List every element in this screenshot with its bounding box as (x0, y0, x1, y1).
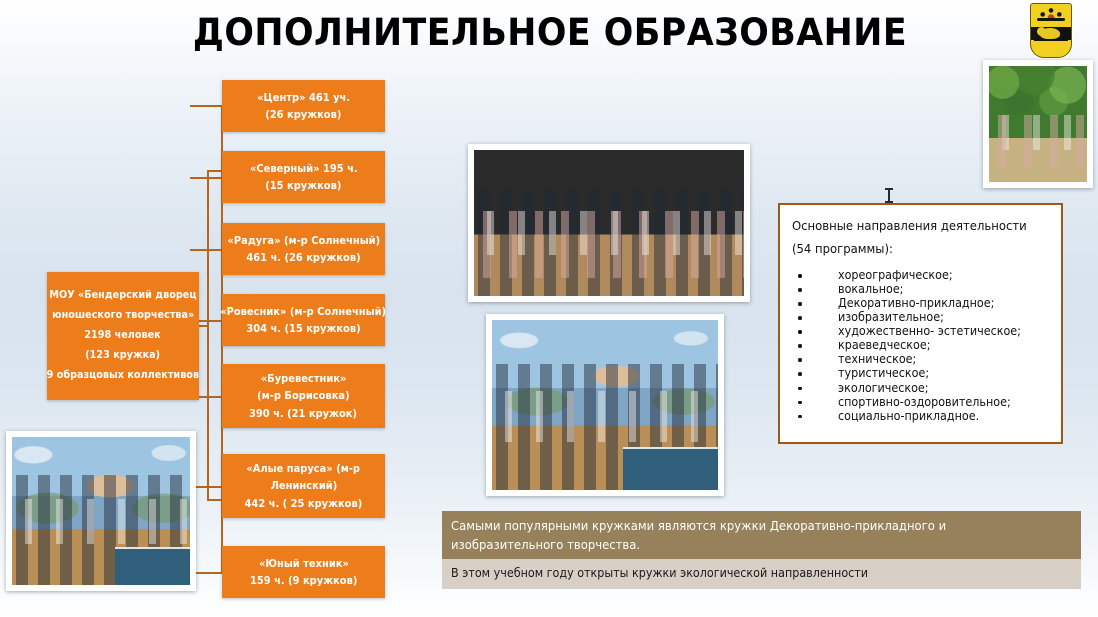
list-item: техническое; (792, 352, 1051, 366)
list-item: вокальное; (792, 282, 1051, 296)
list-item-label: техническое; (838, 352, 916, 366)
photo-table-tennis-center: Группа детей с грамотами в зале настольн… (486, 314, 724, 496)
main-box-line-2: юношеского творчества» (52, 306, 194, 326)
branch-line: (м-р Борисовка) (257, 387, 349, 404)
branch-box-centr: «Центр» 461 уч. (26 кружков) (222, 80, 385, 132)
photo-table-tennis-center-image (492, 320, 718, 490)
institution-summary-box: МОУ «Бендерский дворец юношеского творче… (47, 272, 199, 400)
highlight-banner-primary: Самыми популярными кружками являются кру… (442, 511, 1081, 559)
main-box-line-5: 9 образцовых коллективов (47, 366, 199, 386)
branch-line: «Центр» 461 уч. (257, 89, 350, 106)
list-item-label: хореографическое; (838, 268, 953, 282)
photo-crowd-layer-3 (12, 499, 190, 543)
photo-kids-costumes-image (474, 150, 744, 296)
emblem-base (1034, 40, 1068, 48)
branch-box-alye-parusa: «Алые паруса» (м-р Ленинский) 442 ч. ( 2… (222, 454, 385, 518)
branch-box-raduga: «Радуга» (м-р Солнечный) 461 ч. (26 круж… (222, 223, 385, 275)
list-item-label: туристическое; (838, 366, 929, 380)
branch-box-severnyi: «Северный» 195 ч. (15 кружков) (222, 151, 385, 203)
photo-kids-costumes: Группа детей в новогодних костюмах (468, 144, 750, 302)
list-item: спортивно-оздоровительное; (792, 395, 1051, 409)
photo-outdoor-group: Группа детей на природе летом (983, 60, 1093, 188)
list-item-label: спортивно-оздоровительное; (838, 395, 1011, 409)
photo-outdoor-group-image (989, 66, 1087, 182)
branch-line: (15 кружков) (265, 177, 341, 194)
list-item-label: вокальное; (838, 282, 903, 296)
branch-line: (26 кружков) (265, 106, 341, 123)
info-heading-line-1: Основные направления деятельности (792, 214, 1033, 237)
list-item: изобразительное; (792, 310, 1051, 324)
list-item-label: социально-прикладное. (838, 409, 979, 423)
branch-line: «Радуга» (м-р Солнечный) (227, 232, 380, 249)
list-item: Декоративно-прикладное; (792, 296, 1051, 310)
photo-crowd-layer-2 (989, 115, 1087, 168)
photo-crowd-layer-3 (474, 211, 744, 255)
list-item: краеведческое; (792, 338, 1051, 352)
banner-bottom-line-1: В этом учебном году открыты кружки эколо… (451, 565, 1029, 582)
page-title: ДОПОЛНИТЕЛЬНОЕ ОБРАЗОВАНИЕ (174, 4, 926, 60)
banner-top-line-1: Самыми популярными кружками являются кру… (451, 516, 1029, 535)
ping-pong-table (115, 547, 190, 585)
branch-line: «Ровесник» (м-р Солнечный) (221, 303, 387, 320)
list-item-label: краеведческое; (838, 338, 930, 352)
main-box-line-3: 2198 человек (85, 326, 161, 346)
branch-line: 442 ч. ( 25 кружков) (245, 495, 363, 512)
emblem-crest-bar (1037, 18, 1065, 21)
connector-stub-1 (190, 105, 223, 107)
main-box-line-1: МОУ «Бендерский дворец (49, 286, 196, 306)
photo-table-tennis-left: Группа детей с грамотами в зале настольн… (6, 431, 196, 591)
branch-box-yunyi-tehnik: «Юный техник» 159 ч. (9 кружков) (222, 546, 385, 598)
branch-line: «Юный техник» (259, 555, 349, 572)
activity-directions-box: Основные направления деятельности (54 пр… (778, 203, 1063, 444)
photo-table-tennis-left-image (12, 437, 190, 585)
connector-photo-to-info (888, 188, 890, 203)
list-item: туристическое; (792, 366, 1051, 380)
connector-stub-2 (190, 177, 223, 179)
ping-pong-table (623, 447, 718, 490)
info-heading-line-2: (54 программы): (792, 237, 1033, 260)
main-box-line-4: (123 кружка) (86, 346, 161, 366)
list-item-label: экологическое; (838, 381, 929, 395)
coat-of-arms-icon (1030, 3, 1072, 58)
connector-stub-3 (190, 249, 223, 251)
photo-crowd-layer-3 (492, 391, 718, 442)
list-item: социально-прикладное. (792, 409, 1051, 423)
activity-directions-list: хореографическое; вокальное; Декоративно… (792, 268, 1051, 422)
list-item-label: Декоративно-прикладное; (838, 296, 994, 310)
list-item: художественно- эстетическое; (792, 324, 1051, 338)
list-item-label: художественно- эстетическое; (838, 324, 1021, 338)
branch-line: 461 ч. (26 кружков) (246, 249, 360, 266)
list-item: хореографическое; (792, 268, 1051, 282)
branch-line: 159 ч. (9 кружков) (250, 572, 357, 589)
branch-line: 304 ч. (15 кружков) (246, 320, 360, 337)
branch-line: Ленинский) (270, 477, 337, 494)
list-item-label: изобразительное; (838, 310, 944, 324)
slide-canvas: ДОПОЛНИТЕЛЬНОЕ ОБРАЗОВАНИЕ МОУ «Бендерск… (0, 0, 1098, 617)
connector-spine-outer (207, 170, 209, 500)
banner-top-line-2: изобразительного творчества. (451, 535, 1029, 554)
emblem-shield (1030, 3, 1072, 58)
branch-line: «Алые паруса» (м-р (247, 460, 361, 477)
highlight-banner-secondary: В этом учебном году открыты кружки эколо… (442, 559, 1081, 589)
branch-box-rovesnik: «Ровесник» (м-р Солнечный) 304 ч. (15 кр… (222, 294, 385, 346)
branch-box-burevestnik: «Буревестник» (м-р Борисовка) 390 ч. (21… (222, 364, 385, 428)
branch-line: «Северный» 195 ч. (250, 160, 358, 177)
branch-line: 390 ч. (21 кружок) (249, 405, 357, 422)
list-item: экологическое; (792, 381, 1051, 395)
branch-line: «Буревестник» (261, 370, 347, 387)
emblem-crest (1038, 8, 1064, 24)
